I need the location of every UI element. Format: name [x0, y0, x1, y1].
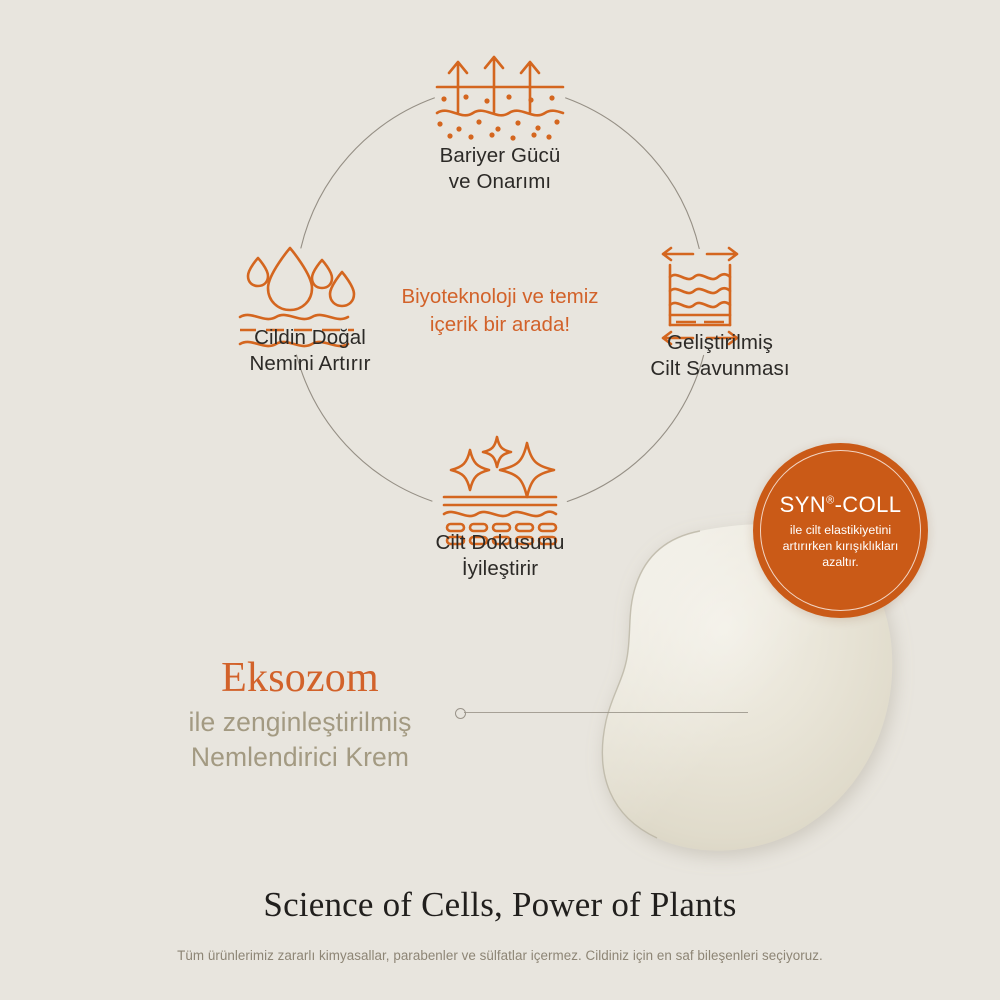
product-subtitle-line2: Nemlendirici Krem	[130, 740, 470, 775]
product-hero-word: Eksozom	[130, 655, 470, 701]
cycle-center-message-line2: içerik bir arada!	[330, 311, 670, 339]
cycle-label-barrier-line1: Bariyer Gücü	[340, 143, 660, 169]
cycle-label-barrier: Bariyer Gücü ve Onarımı	[340, 143, 660, 195]
product-subtitle: ile zenginleştirilmiş Nemlendirici Krem	[130, 705, 470, 775]
cycle-label-barrier-line2: ve Onarımı	[340, 169, 660, 195]
cycle-label-texture: Cilt Dokusunu İyileştirir	[340, 530, 660, 582]
cycle-label-texture-line1: Cilt Dokusunu	[340, 530, 660, 556]
syn-coll-badge-title: SYN®-COLL	[780, 492, 902, 518]
syn-coll-badge[interactable]: SYN®-COLL ile cilt elastikiyetini artırı…	[753, 443, 928, 618]
poster-canvas: Bariyer Gücü ve Onarımı Cildin Doğal Nem…	[0, 0, 1000, 1000]
page-tagline: Science of Cells, Power of Plants	[0, 885, 1000, 925]
skin-sparkle-texture-icon	[444, 437, 556, 544]
syn-coll-badge-description-line3: azaltır.	[766, 554, 916, 570]
product-title-block: Eksozom ile zenginleştirilmiş Nemlendiri…	[130, 655, 470, 775]
cycle-label-defense-line2: Cilt Savunması	[560, 356, 880, 382]
cycle-center-message: Biyoteknoloji ve temiz içerik bir arada!	[330, 283, 670, 339]
product-subtitle-line1: ile zenginleştirilmiş	[130, 705, 470, 740]
skin-barrier-arrows-icon	[437, 57, 563, 141]
cycle-label-texture-line2: İyileştirir	[340, 556, 660, 582]
page-fineprint: Tüm ürünlerimiz zararlı kimyasallar, par…	[0, 948, 1000, 963]
syn-coll-badge-description-line1: ile cilt elastikiyetini	[766, 522, 916, 538]
syn-coll-badge-description: ile cilt elastikiyetini artırırken kırış…	[766, 522, 916, 570]
cycle-label-moisture-line2: Nemini Artırır	[150, 351, 470, 377]
syn-coll-badge-description-line2: artırırken kırışıklıkları	[766, 538, 916, 554]
connector-line	[464, 712, 748, 713]
registered-trademark-icon: ®	[826, 494, 835, 506]
connector-dot-icon	[455, 708, 466, 719]
syn-coll-badge-title-rest: -COLL	[835, 492, 902, 517]
syn-coll-badge-title-main: SYN	[780, 492, 826, 517]
cycle-center-message-line1: Biyoteknoloji ve temiz	[330, 283, 670, 311]
